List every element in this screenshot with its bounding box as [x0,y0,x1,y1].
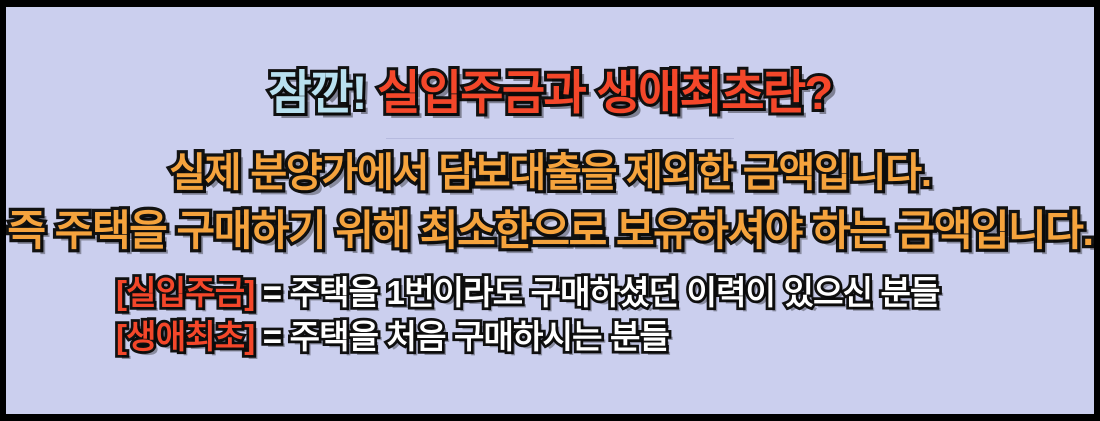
body-line-1: 실제 분양가에서 담보대출을 제외한 금액입니다. [6,153,1094,193]
info-banner: 잠깐! 실입주금과 생애최초란? 실제 분양가에서 담보대출을 제외한 금액입니… [0,0,1100,421]
banner-stage: 잠깐! 실입주금과 생애최초란? 실제 분양가에서 담보대출을 제외한 금액입니… [6,7,1094,414]
definition-description-2: 주택을 처음 구매하시는 분들 [290,318,669,355]
banner-title: 잠깐! 실입주금과 생애최초란? [6,69,1094,116]
definition-term-2: [생애최초] [116,318,254,355]
body-line-2: 즉 주택을 구매하기 위해 최소한으로 보유하셔야 하는 금액입니다. [6,210,1094,252]
title-space [366,66,377,119]
definition-separator-1: = [254,274,289,311]
definition-term-1: [실입주금] [116,274,254,311]
title-main: 실입주금과 생애최초란? [377,66,831,119]
definition-row-1: [실입주금] = 주택을 1번이라도 구매하셨던 이력이 있으신 분들 [116,276,940,309]
definition-description-1: 주택을 1번이라도 구매하셨던 이력이 있으신 분들 [290,274,940,311]
title-highlight: 잠깐! [268,66,365,119]
title-divider [386,138,734,139]
definition-separator-2: = [254,318,289,355]
definition-row-2: [생애최초] = 주택을 처음 구매하시는 분들 [116,320,669,353]
